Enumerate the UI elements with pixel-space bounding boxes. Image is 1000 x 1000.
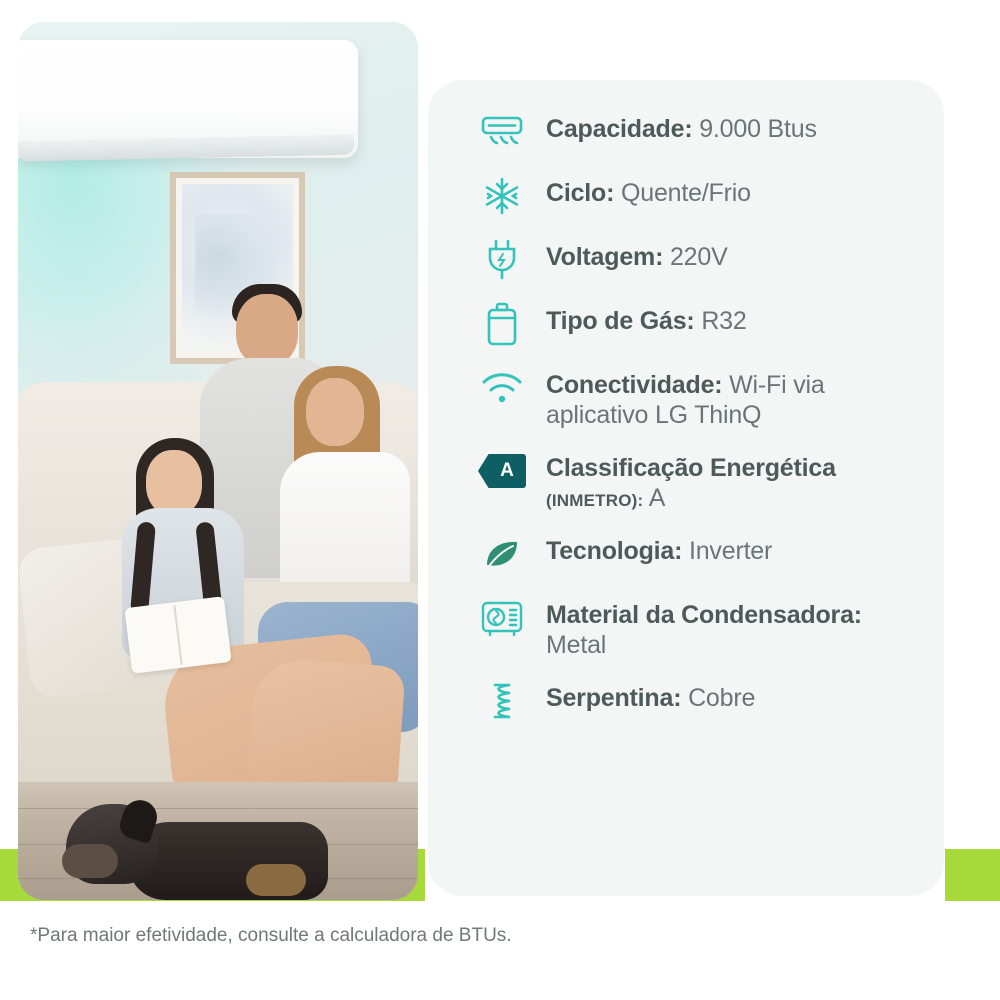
spec-key: Serpentina:	[546, 684, 681, 712]
spec-row-material-da-condensadora: Material da Condensadora: Metal	[476, 586, 926, 669]
floor-plank-line	[18, 808, 418, 809]
spec-text-classificacao-energetica: Classificação Energética (INMETRO): A	[546, 448, 836, 513]
spec-key: Classificação Energética	[546, 454, 836, 482]
spec-row-capacidade: Capacidade: 9.000 Btus	[476, 100, 926, 164]
specifications-list: Capacidade: 9.000 Btus Ciclo: Quente/Fri…	[476, 100, 926, 882]
spec-value: Metal	[546, 631, 606, 659]
spec-value: R32	[701, 307, 746, 335]
spec-row-voltagem: Voltagem: 220V	[476, 228, 926, 292]
dog-snout	[62, 844, 118, 878]
spec-text-tipo-de-gas: Tipo de Gás: R32	[546, 301, 747, 336]
power-plug-icon	[476, 237, 528, 283]
leaf-icon	[476, 531, 528, 577]
spec-key: Capacidade:	[546, 115, 692, 143]
spec-row-serpentina: Serpentina: Cobre	[476, 669, 926, 733]
spec-text-tecnologia: Tecnologia: Inverter	[546, 531, 772, 566]
spec-row-tecnologia: Tecnologia: Inverter	[476, 522, 926, 586]
energy-badge-letter: A	[500, 460, 514, 482]
spec-key: Voltagem:	[546, 243, 663, 271]
coil-icon	[476, 678, 528, 724]
spec-value: Cobre	[688, 684, 755, 712]
spec-text-material-da-condensadora: Material da Condensadora: Metal	[546, 595, 926, 660]
spec-text-ciclo: Ciclo: Quente/Frio	[546, 173, 751, 208]
snowflake-icon	[476, 173, 528, 219]
spec-key: Conectividade:	[546, 371, 722, 399]
spec-key: Tipo de Gás:	[546, 307, 695, 335]
spec-value: Inverter	[689, 537, 772, 565]
spec-text-capacidade: Capacidade: 9.000 Btus	[546, 109, 817, 144]
spec-key: Ciclo:	[546, 179, 614, 207]
energy-badge: A	[478, 454, 526, 488]
wifi-icon	[476, 365, 528, 411]
spec-key: Material da Condensadora:	[546, 601, 862, 629]
spec-text-conectividade: Conectividade: Wi-Fi via aplicativo LG T…	[546, 365, 926, 430]
man-head	[236, 294, 298, 366]
spec-text-serpentina: Serpentina: Cobre	[546, 678, 755, 713]
footnote: *Para maior efetividade, consulte a calc…	[30, 925, 512, 947]
lifestyle-photo	[18, 22, 418, 900]
condenser-icon	[476, 595, 528, 641]
spec-key: Tecnologia:	[546, 537, 682, 565]
energy-label-icon: A	[476, 448, 528, 494]
photo-scene	[18, 22, 418, 900]
spec-subkey: (INMETRO):	[546, 491, 643, 510]
spec-row-ciclo: Ciclo: Quente/Frio	[476, 164, 926, 228]
spec-row-conectividade: Conectividade: Wi-Fi via aplicativo LG T…	[476, 356, 926, 439]
spec-row-classificacao-energetica: A Classificação Energética (INMETRO): A	[476, 439, 926, 522]
girl-head	[146, 450, 202, 516]
open-book	[124, 596, 231, 674]
dog-tan-marking	[246, 864, 306, 896]
gas-cylinder-icon	[476, 301, 528, 347]
spec-value: 9.000 Btus	[699, 115, 817, 143]
specifications-card: Capacidade: 9.000 Btus Ciclo: Quente/Fri…	[428, 80, 944, 896]
spec-value: A	[649, 484, 665, 512]
spec-value: Quente/Frio	[621, 179, 751, 207]
spec-value: 220V	[670, 243, 728, 271]
woman-head	[306, 378, 364, 446]
ac-unit-icon	[476, 109, 528, 155]
spec-row-tipo-de-gas: Tipo de Gás: R32	[476, 292, 926, 356]
spec-text-voltagem: Voltagem: 220V	[546, 237, 728, 272]
